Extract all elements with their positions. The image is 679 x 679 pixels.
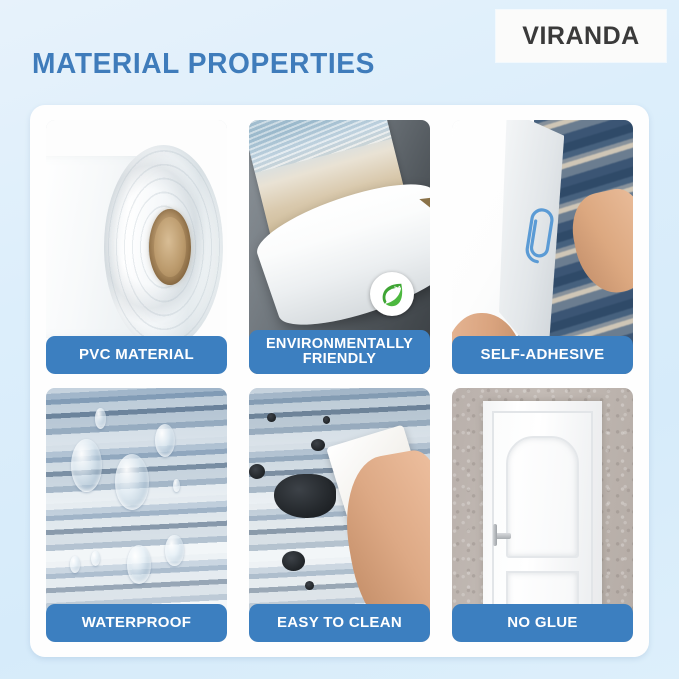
page-title: MATERIAL PROPERTIES: [32, 48, 375, 81]
feature-card-pvc-material[interactable]: PVC MATERIAL: [46, 120, 227, 374]
feature-label-no-glue: NO GLUE: [452, 604, 633, 642]
feature-card-environmentally-friendly[interactable]: ENVIRONMENTALLY FRIENDLY: [249, 120, 430, 374]
feature-label-environmentally-friendly: ENVIRONMENTALLY FRIENDLY: [249, 330, 430, 374]
feature-label-line2: FRIENDLY: [303, 351, 377, 367]
feature-card-self-adhesive[interactable]: SELF-ADHESIVE: [452, 120, 633, 374]
feature-card-waterproof[interactable]: WATERPROOF: [46, 388, 227, 642]
features-panel: PVC MATERIAL: [30, 105, 649, 657]
feature-label-line1: ENVIRONMENTALLY: [266, 336, 413, 352]
brand-logo-text: VIRANDA: [522, 22, 639, 51]
feature-card-easy-to-clean[interactable]: EASY TO CLEAN: [249, 388, 430, 642]
leaf-icon: [370, 272, 414, 316]
features-grid: PVC MATERIAL: [46, 120, 633, 642]
feature-label-pvc-material: PVC MATERIAL: [46, 336, 227, 374]
brand-logo-box: VIRANDA: [496, 10, 666, 62]
feature-label-waterproof: WATERPROOF: [46, 604, 227, 642]
feature-card-no-glue[interactable]: NO GLUE: [452, 388, 633, 642]
feature-label-self-adhesive: SELF-ADHESIVE: [452, 336, 633, 374]
feature-label-easy-to-clean: EASY TO CLEAN: [249, 604, 430, 642]
